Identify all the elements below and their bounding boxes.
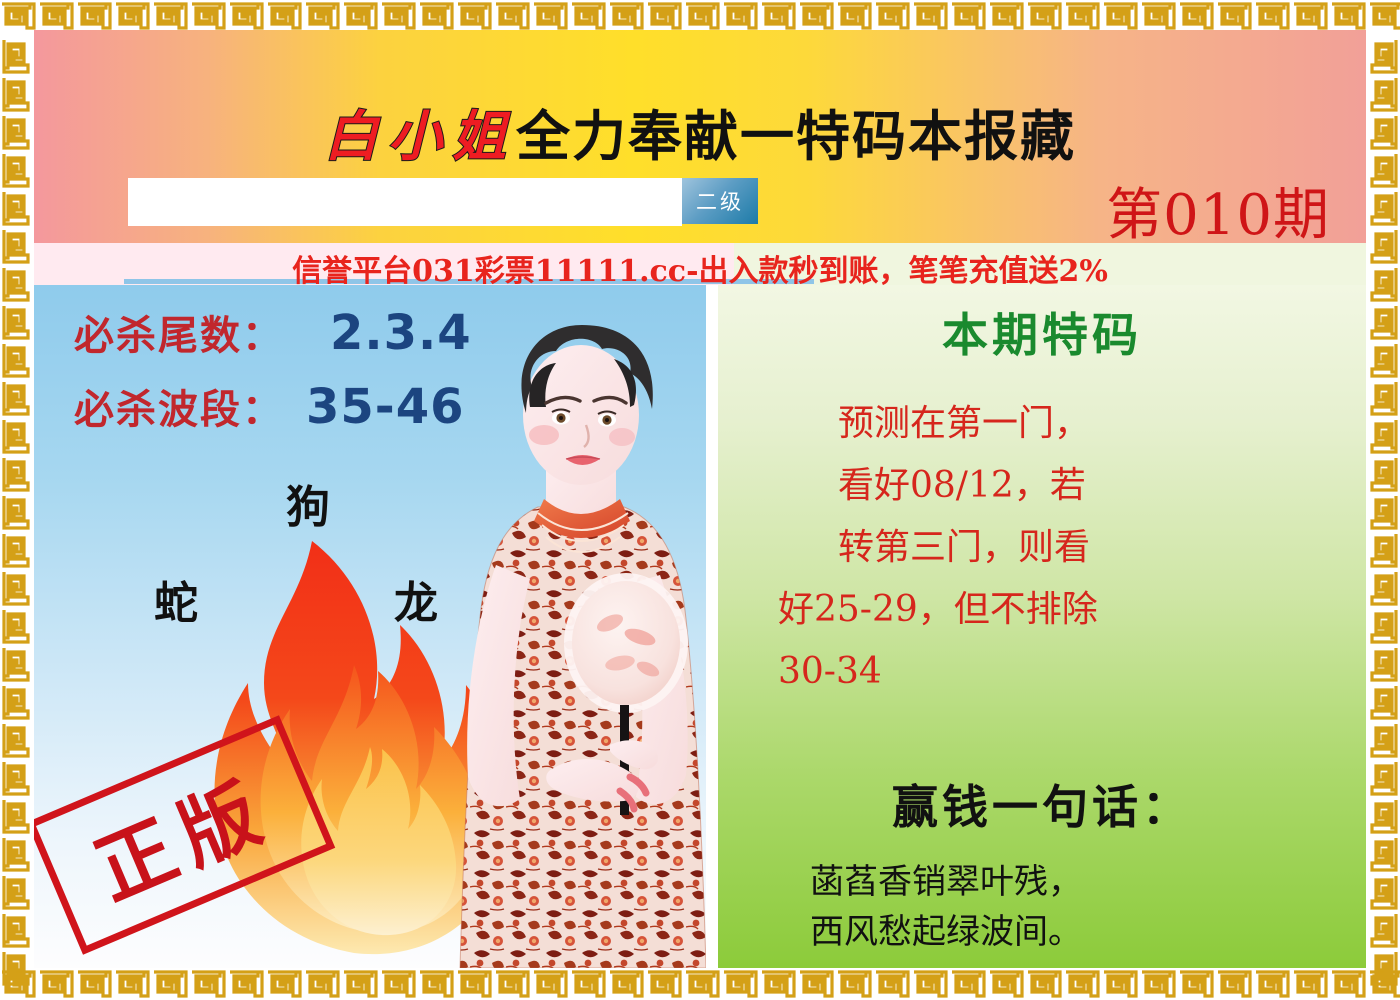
left-prediction-panel: 必杀尾数： 2.3.4 必杀波段： 35-46 狗 蛇 龙 [34, 285, 706, 968]
promo-text: 信誉平台031彩票11111.cc-出入款秒到账，笔笔充值送2% [34, 246, 1366, 285]
issue-number: 第010期 [1106, 170, 1330, 243]
prediction-line: 好25-29，但不排除 [778, 579, 1338, 641]
win-phrase-title: 赢钱一句话： [718, 771, 1366, 837]
prediction-line: 预测在第一门， [778, 393, 1338, 455]
page-title-tagline: 全力奉献一特码本报藏 [516, 105, 1076, 168]
border-top-meander-icon [0, 0, 1400, 32]
grade-badge[interactable]: 二级 [682, 178, 758, 224]
search-row: 二级 [128, 178, 758, 224]
search-input[interactable] [128, 178, 682, 226]
zodiac-left: 蛇 [154, 567, 198, 631]
tip-sheet-page: 白小姐全力奉献一特码本报藏 二级 第010期 信誉平台031彩票11111.cc… [0, 0, 1400, 1000]
prediction-line: 30-34 [778, 641, 1338, 703]
poem-line: 菡萏香销翠叶残， [810, 857, 1330, 907]
poem-line: 西风愁起绿波间。 [810, 907, 1330, 957]
kill-band-label: 必杀波段： [74, 377, 284, 435]
right-special-code-panel: 本期特码 预测在第一门， 看好08/12，若 转第三门，则看 好25-29，但不… [718, 285, 1366, 968]
special-code-title: 本期特码 [718, 299, 1366, 365]
border-right-meander-icon [1368, 0, 1400, 1000]
promo-strip: 信誉平台031彩票11111.cc-出入款秒到账，笔笔充值送2% [34, 243, 1366, 285]
border-left-meander-icon [0, 0, 32, 1000]
zodiac-top: 狗 [286, 471, 330, 535]
border-bottom-meander-icon [0, 968, 1400, 1000]
kill-band-row: 必杀波段： 35-46 [74, 377, 465, 435]
page-title-brand: 白小姐 [324, 105, 516, 168]
page-title: 白小姐全力奉献一特码本报藏 [34, 92, 1366, 171]
prediction-line: 看好08/12，若 [778, 455, 1338, 517]
kill-tail-row: 必杀尾数： 2.3.4 [74, 303, 472, 361]
prediction-text-block: 预测在第一门， 看好08/12，若 转第三门，则看 好25-29，但不排除 30… [778, 393, 1338, 703]
woman-illustration [434, 307, 706, 968]
zodiac-right: 龙 [394, 567, 438, 631]
poem-block: 菡萏香销翠叶残， 西风愁起绿波间。 [810, 857, 1330, 957]
kill-tail-label: 必杀尾数： [74, 303, 284, 361]
header-banner: 白小姐全力奉献一特码本报藏 二级 第010期 [34, 30, 1366, 243]
prediction-line: 转第三门，则看 [778, 517, 1338, 579]
